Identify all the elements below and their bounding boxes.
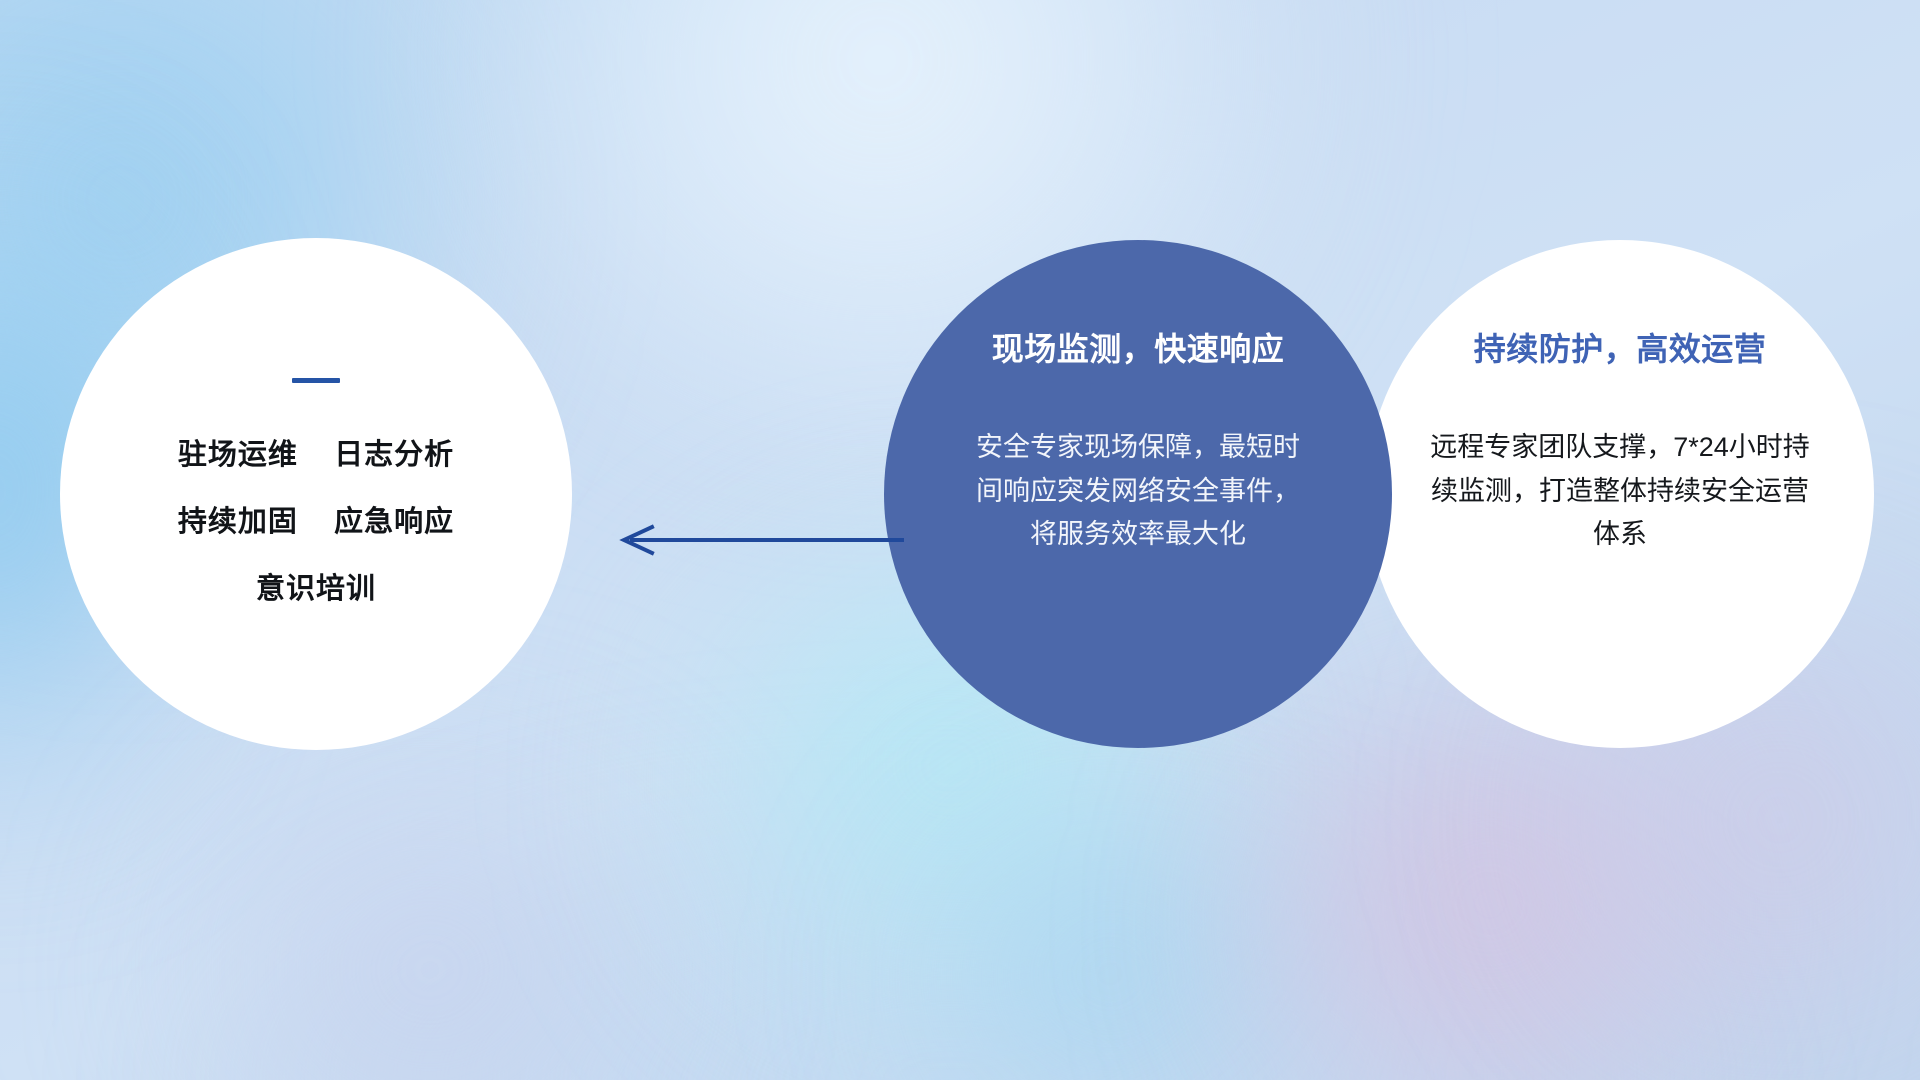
- capability-tag-list: 驻场运维 日志分析 持续加固 应急响应 意识培训: [178, 441, 454, 604]
- continuous-protection-circle: 持续防护，高效运营 远程专家团队支撑，7*24小时持续监测，打造整体持续安全运营…: [1366, 240, 1874, 748]
- list-item: 驻场运维 日志分析: [178, 441, 454, 470]
- right-circle-body: 远程专家团队支撑，7*24小时持续监测，打造整体持续安全运营体系: [1420, 426, 1820, 557]
- middle-circle-title: 现场监测，快速响应: [992, 324, 1285, 370]
- onsite-monitoring-circle: 现场监测，快速响应 安全专家现场保障，最短时间响应突发网络安全事件，将服务效率最…: [884, 240, 1392, 748]
- list-item: 意识培训: [178, 575, 454, 604]
- list-item: 持续加固 应急响应: [178, 508, 454, 537]
- capability-tags-circle: 驻场运维 日志分析 持续加固 应急响应 意识培训: [60, 238, 572, 750]
- right-circle-title: 持续防护，高效运营: [1474, 324, 1767, 370]
- slide-canvas: 驻场运维 日志分析 持续加固 应急响应 意识培训 持续防护，高效运营 远程专家团…: [0, 0, 1920, 1080]
- divider-dash-icon: [292, 378, 340, 383]
- left-arrow-connector: [608, 520, 908, 560]
- middle-circle-body: 安全专家现场保障，最短时间响应突发网络安全事件，将服务效率最大化: [973, 426, 1303, 557]
